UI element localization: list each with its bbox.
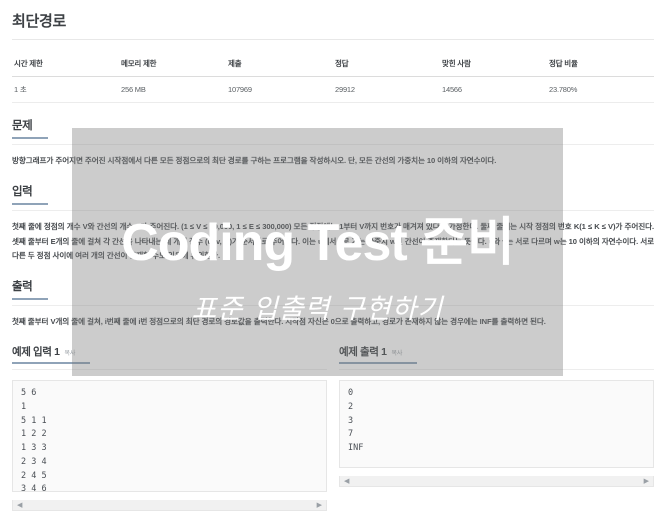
sample-input-panel: 예제 입력 1 복사 5 6 1 5 1 1 1 2 2 1 3 3 2 3 4…	[12, 344, 327, 512]
header-time-limit: 시간 제한	[12, 54, 119, 77]
value-solvers: 14566	[440, 77, 547, 103]
section-output: 출력 첫째 줄부터 V개의 줄에 걸쳐, i번째 줄에 i번 정점으로의 최단 …	[12, 264, 654, 330]
section-input-accent	[12, 203, 48, 205]
header-solvers: 맞힌 사람	[440, 54, 547, 77]
value-accepted: 29912	[333, 77, 440, 103]
section-input-body: 첫째 줄에 정점의 개수 V와 간선의 개수 E가 주어진다. (1 ≤ V ≤…	[12, 211, 654, 264]
value-time-limit: 1 초	[12, 77, 119, 103]
scroll-left-icon[interactable]: ◀	[17, 501, 22, 510]
sample-input-content[interactable]: 5 6 1 5 1 1 1 2 2 1 3 3 2 3 4 2 4 5 3 4 …	[12, 380, 327, 492]
scroll-left-icon[interactable]: ◀	[344, 477, 349, 486]
section-problem-accent	[12, 137, 48, 139]
sample-input-header: 예제 입력 1 복사	[12, 344, 327, 359]
sample-output-header: 예제 출력 1 복사	[339, 344, 654, 359]
header-submissions: 제출	[226, 54, 333, 77]
value-submissions: 107969	[226, 77, 333, 103]
table-header-row: 시간 제한 메모리 제한 제출 정답 맞힌 사람 정답 비율	[12, 54, 654, 77]
sample-input-title: 예제 입력 1	[12, 344, 60, 359]
header-accept-rate: 정답 비율	[547, 54, 654, 77]
header-memory-limit: 메모리 제한	[119, 54, 226, 77]
problem-info-table: 시간 제한 메모리 제한 제출 정답 맞힌 사람 정답 비율 1 초 256 M…	[12, 54, 654, 103]
sample-output-accent	[339, 362, 417, 364]
section-output-body: 첫째 줄부터 V개의 줄에 걸쳐, i번째 줄에 i번 정점으로의 최단 경로의…	[12, 306, 654, 330]
sample-output-title: 예제 출력 1	[339, 344, 387, 359]
section-problem: 문제 방향그래프가 주어지면 주어진 시작점에서 다른 모든 정점으로의 최단 …	[12, 103, 654, 169]
scroll-right-icon[interactable]: ▶	[644, 477, 649, 486]
sample-output-divider	[339, 369, 654, 370]
sample-output-scrollbar[interactable]: ◀ ▶	[339, 476, 654, 487]
section-problem-body: 방향그래프가 주어지면 주어진 시작점에서 다른 모든 정점으로의 최단 경로를…	[12, 145, 654, 169]
sample-output-content[interactable]: 0 2 3 7 INF	[339, 380, 654, 468]
value-memory-limit: 256 MB	[119, 77, 226, 103]
copy-sample-input-button[interactable]: 복사	[65, 348, 76, 357]
sample-input-scrollbar[interactable]: ◀ ▶	[12, 500, 327, 511]
title-divider	[12, 39, 654, 40]
scroll-right-icon[interactable]: ▶	[317, 501, 322, 510]
copy-sample-output-button[interactable]: 복사	[392, 348, 403, 357]
sample-output-panel: 예제 출력 1 복사 0 2 3 7 INF ◀ ▶	[339, 344, 654, 512]
sample-panels: 예제 입력 1 복사 5 6 1 5 1 1 1 2 2 1 3 3 2 3 4…	[12, 330, 654, 512]
section-problem-heading: 문제	[12, 103, 32, 137]
section-input: 입력 첫째 줄에 정점의 개수 V와 간선의 개수 E가 주어진다. (1 ≤ …	[12, 169, 654, 264]
section-output-heading: 출력	[12, 264, 32, 298]
sample-input-accent	[12, 362, 90, 364]
header-accepted: 정답	[333, 54, 440, 77]
table-row: 1 초 256 MB 107969 29912 14566 23.780%	[12, 77, 654, 103]
page-title: 최단경로	[0, 0, 666, 39]
section-output-accent	[12, 298, 48, 300]
value-accept-rate: 23.780%	[547, 77, 654, 103]
section-input-heading: 입력	[12, 169, 32, 203]
sample-input-divider	[12, 369, 327, 370]
